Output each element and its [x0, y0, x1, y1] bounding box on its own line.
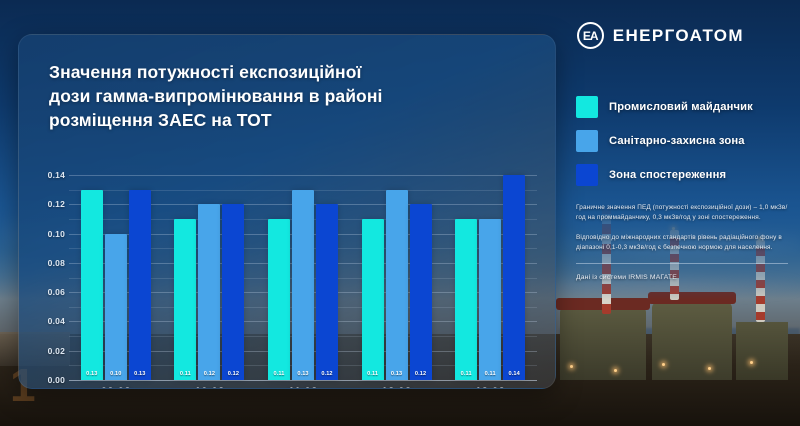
bar[interactable]: 0.14 — [503, 175, 525, 380]
y-axis-tick-label: 0.14 — [48, 170, 65, 180]
bar[interactable]: 0.11 — [455, 219, 477, 380]
x-axis-labels: 09.0310.0311.0312.0313.03 — [69, 387, 537, 389]
site-light — [614, 369, 617, 372]
chart-legend: Промисловий майданчикСанітарно-захисна з… — [576, 96, 792, 198]
y-axis-labels: 0.000.020.040.060.080.100.120.14 — [23, 175, 65, 380]
reactor-building-1 — [560, 308, 646, 380]
bar[interactable]: 0.13 — [81, 190, 103, 380]
bar-value-label: 0.11 — [367, 371, 378, 377]
bar[interactable]: 0.11 — [174, 219, 196, 380]
bar-value-label: 0.12 — [415, 371, 426, 377]
bar-group: 0.110.130.12 — [268, 175, 338, 380]
y-axis-tick-label: 0.00 — [48, 375, 65, 385]
x-axis-tick-label: 10.03 — [194, 387, 224, 389]
y-axis-tick-label: 0.02 — [48, 346, 65, 356]
bar-group: 0.110.130.12 — [362, 175, 432, 380]
legend-swatch — [576, 130, 598, 152]
bar-value-label: 0.11 — [273, 371, 284, 377]
y-axis-tick-label: 0.04 — [48, 316, 65, 326]
bar[interactable]: 0.10 — [105, 234, 127, 380]
legend-label: Зона спостереження — [609, 169, 726, 181]
footnote-divider — [576, 263, 788, 264]
reactor-building-3 — [736, 322, 788, 380]
bar-value-label: 0.12 — [321, 371, 332, 377]
y-axis-tick-label: 0.12 — [48, 199, 65, 209]
reactor-building-2 — [652, 302, 732, 380]
bar-group: 0.110.120.12 — [174, 175, 244, 380]
bar[interactable]: 0.11 — [479, 219, 501, 380]
bar-group: 0.110.110.14 — [455, 175, 525, 380]
footnote-source: Дані із системи IRMIS МАГАТЕ — [576, 272, 788, 283]
bar-value-label: 0.10 — [110, 371, 121, 377]
bar[interactable]: 0.12 — [410, 204, 432, 380]
bar[interactable]: 0.12 — [316, 204, 338, 380]
bar-value-label: 0.12 — [228, 371, 239, 377]
bar-value-label: 0.11 — [485, 371, 496, 377]
site-light — [570, 365, 573, 368]
axis-baseline — [69, 380, 537, 381]
footnotes: Граничне значення ПЕД (потужності експоз… — [576, 203, 788, 283]
bar[interactable]: 0.13 — [292, 190, 314, 380]
bar-value-label: 0.13 — [134, 371, 145, 377]
bar[interactable]: 0.11 — [362, 219, 384, 380]
legend-label: Промисловий майданчик — [609, 101, 753, 113]
chart-card: Значення потужності експозиційної дози г… — [18, 34, 556, 389]
page-title: Значення потужності експозиційної дози г… — [49, 61, 489, 132]
site-light — [708, 367, 711, 370]
bar-value-label: 0.14 — [509, 371, 520, 377]
bar-value-label: 0.11 — [180, 371, 191, 377]
bar-value-label: 0.11 — [461, 371, 472, 377]
energoatom-monogram-icon: ЕА — [577, 22, 604, 49]
plot-area: 0.130.100.130.110.120.120.110.130.120.11… — [69, 175, 537, 380]
brand-name: ЕНЕРГОАТОМ — [613, 26, 744, 46]
logo-monogram-text: ЕА — [583, 29, 598, 43]
x-axis-tick-label: 09.03 — [101, 387, 131, 389]
bar-value-label: 0.13 — [297, 371, 308, 377]
bar-value-label: 0.12 — [204, 371, 215, 377]
bar[interactable]: 0.12 — [198, 204, 220, 380]
bar[interactable]: 0.13 — [386, 190, 408, 380]
x-axis-tick-label: 11.03 — [288, 387, 318, 389]
footnote-limit: Граничне значення ПЕД (потужності експоз… — [576, 203, 788, 224]
bar[interactable]: 0.11 — [268, 219, 290, 380]
legend-swatch — [576, 164, 598, 186]
y-axis-tick-label: 0.10 — [48, 229, 65, 239]
legend-label: Санітарно-захисна зона — [609, 135, 745, 147]
y-axis-tick-label: 0.06 — [48, 287, 65, 297]
x-axis-tick-label: 13.03 — [475, 387, 505, 389]
site-light — [662, 363, 665, 366]
bar-value-label: 0.13 — [391, 371, 402, 377]
bar[interactable]: 0.12 — [222, 204, 244, 380]
legend-item[interactable]: Промисловий майданчик — [576, 96, 792, 118]
bar-group: 0.130.100.13 — [81, 175, 151, 380]
legend-swatch — [576, 96, 598, 118]
y-axis-tick-label: 0.08 — [48, 258, 65, 268]
legend-item[interactable]: Санітарно-захисна зона — [576, 130, 792, 152]
energoatom-logo: ЕА ЕНЕРГОАТОМ — [577, 22, 744, 49]
site-light — [750, 361, 753, 364]
footnote-standard: Відповідно до міжнародних стандартів рів… — [576, 233, 788, 254]
bar[interactable]: 0.13 — [129, 190, 151, 380]
bar-value-label: 0.13 — [86, 371, 97, 377]
bar-groups: 0.130.100.130.110.120.120.110.130.120.11… — [69, 175, 537, 380]
legend-item[interactable]: Зона спостереження — [576, 164, 792, 186]
x-axis-tick-label: 12.03 — [381, 387, 411, 389]
